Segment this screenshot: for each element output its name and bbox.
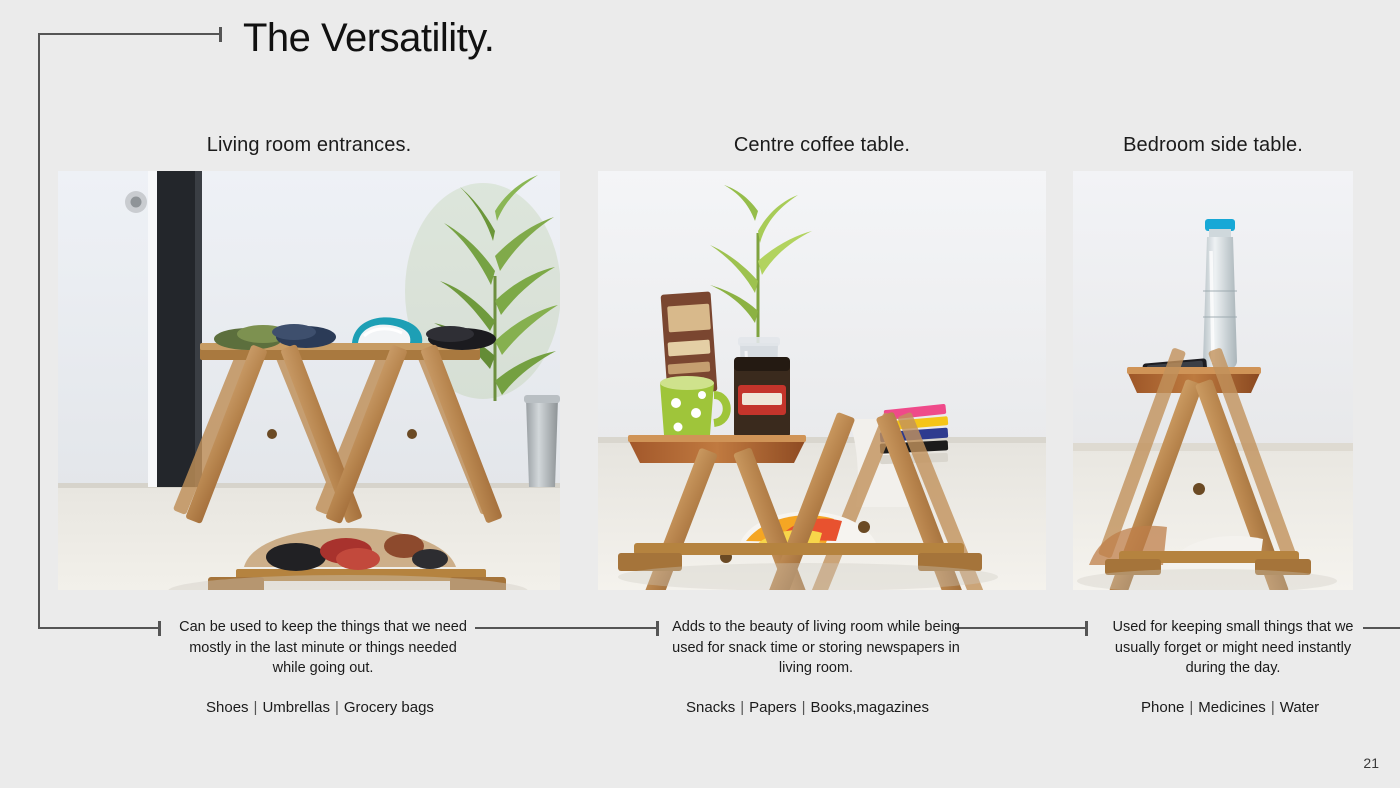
caption-connector-line-3 xyxy=(955,627,1087,629)
caption-1: Can be used to keep the things that we n… xyxy=(178,617,468,679)
tag-separator: | xyxy=(1266,699,1280,716)
tag-item: Medicines xyxy=(1198,699,1266,716)
tag-list-3: Phone|Medicines|Water xyxy=(1141,699,1319,716)
page-title: The Versatility. xyxy=(243,16,494,60)
caption-connector-line-1 xyxy=(38,627,160,629)
photo-coffee-table xyxy=(598,171,1046,590)
caption-connector-endcap-3 xyxy=(1085,621,1088,636)
tag-list-1: Shoes|Umbrellas|Grocery bags xyxy=(206,699,434,716)
column-living-room-entrances: Living room entrances. xyxy=(58,134,560,590)
caption-2: Adds to the beauty of living room while … xyxy=(672,617,960,679)
caption-connector-line-4 xyxy=(1363,627,1400,629)
tag-item: Books,magazines xyxy=(811,699,929,716)
column-heading-1: Living room entrances. xyxy=(58,134,560,157)
tag-item: Water xyxy=(1280,699,1319,716)
caption-connector-line-2 xyxy=(475,627,658,629)
tag-separator: | xyxy=(249,699,263,716)
tag-separator: | xyxy=(330,699,344,716)
column-bedroom-side-table: Bedroom side table. xyxy=(1073,134,1353,590)
tag-item: Umbrellas xyxy=(262,699,330,716)
tag-item: Snacks xyxy=(686,699,735,716)
caption-connector-endcap-2 xyxy=(656,621,659,636)
tag-item: Phone xyxy=(1141,699,1184,716)
photo-bedside-table xyxy=(1073,171,1353,590)
photo-shoe-rack-entrance xyxy=(58,171,560,590)
column-heading-3: Bedroom side table. xyxy=(1073,134,1353,157)
page-number: 21 xyxy=(1363,755,1379,771)
tag-list-2: Snacks|Papers|Books,magazines xyxy=(686,699,929,716)
tag-separator: | xyxy=(735,699,749,716)
title-connector-endcap xyxy=(219,27,222,42)
tag-separator: | xyxy=(797,699,811,716)
tag-separator: | xyxy=(1184,699,1198,716)
caption-3: Used for keeping small things that we us… xyxy=(1098,617,1368,679)
column-centre-coffee-table: Centre coffee table. xyxy=(598,134,1046,590)
column-heading-2: Centre coffee table. xyxy=(598,134,1046,157)
tag-item: Papers xyxy=(749,699,797,716)
caption-connector-endcap-1 xyxy=(158,621,161,636)
left-vertical-connector-line xyxy=(38,33,40,629)
title-connector-line xyxy=(38,33,222,35)
tag-item: Shoes xyxy=(206,699,249,716)
tag-item: Grocery bags xyxy=(344,699,434,716)
